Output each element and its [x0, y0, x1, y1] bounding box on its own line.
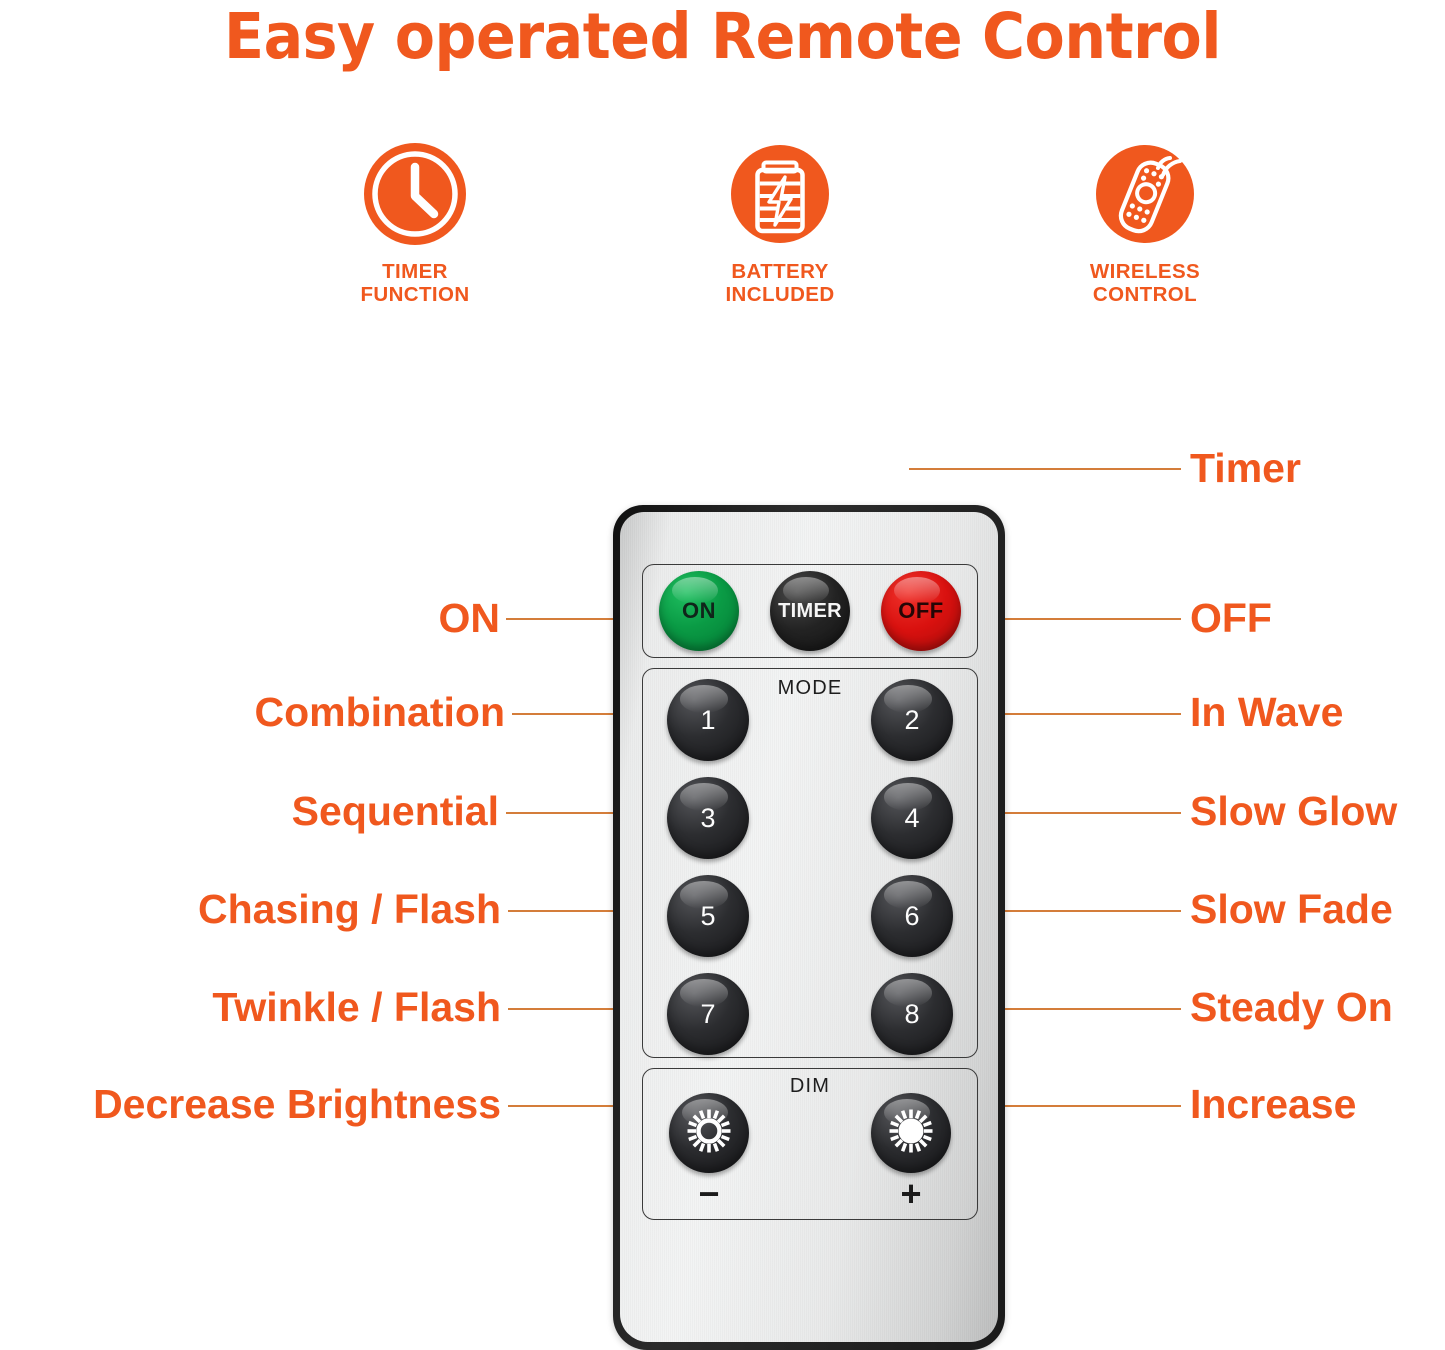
callout-off: OFF: [1190, 596, 1272, 640]
callout-on: ON: [100, 596, 500, 640]
mode-button-1-label: 1: [700, 705, 715, 736]
mode-button-3[interactable]: 3: [667, 777, 749, 859]
mode-button-6-label: 6: [904, 901, 919, 932]
leader-line-timer: [909, 468, 1181, 470]
mode-button-5[interactable]: 5: [667, 875, 749, 957]
timer-button[interactable]: TIMER: [770, 571, 850, 651]
mode-button-8-label: 8: [904, 999, 919, 1030]
off-button-label: OFF: [898, 598, 944, 624]
dim-decrease-sign: −: [669, 1181, 749, 1207]
feature-wireless-line2: CONTROL: [1015, 283, 1275, 306]
remote-control-device: ON TIMER OFF MODE 1 2 3 4 5 6: [613, 505, 1005, 1350]
mode-button-3-label: 3: [700, 803, 715, 834]
mode-button-8[interactable]: 8: [871, 973, 953, 1055]
power-panel: ON TIMER OFF: [642, 564, 978, 658]
mode-button-7[interactable]: 7: [667, 973, 749, 1055]
mode-button-4[interactable]: 4: [871, 777, 953, 859]
clock-icon: [285, 138, 545, 250]
on-button-label: ON: [682, 598, 716, 624]
battery-icon: [650, 138, 910, 250]
feature-timer-function: TIMER FUNCTION: [285, 138, 545, 306]
brightness-low-icon: [684, 1106, 734, 1161]
mode-button-7-label: 7: [700, 999, 715, 1030]
remote-faceplate: ON TIMER OFF MODE 1 2 3 4 5 6: [620, 512, 998, 1342]
dim-increase-sign: +: [871, 1181, 951, 1207]
mode-button-6[interactable]: 6: [871, 875, 953, 957]
feature-timer-line2: FUNCTION: [285, 283, 545, 306]
feature-battery-line1: BATTERY: [650, 260, 910, 283]
mode-button-4-label: 4: [904, 803, 919, 834]
remote-icon: [1015, 138, 1275, 250]
mode-button-5-label: 5: [700, 901, 715, 932]
off-button[interactable]: OFF: [881, 571, 961, 651]
callout-chasing-flash: Chasing / Flash: [60, 887, 501, 931]
feature-wireless-line1: WIRELESS: [1015, 260, 1275, 283]
callout-slow-glow: Slow Glow: [1190, 789, 1397, 833]
mode-button-1[interactable]: 1: [667, 679, 749, 761]
callout-twinkle-flash: Twinkle / Flash: [60, 985, 501, 1029]
callout-sequential: Sequential: [100, 789, 499, 833]
feature-battery-included: BATTERY INCLUDED: [650, 138, 910, 306]
callout-in-wave: In Wave: [1190, 690, 1343, 734]
callout-steady-on: Steady On: [1190, 985, 1393, 1029]
callout-combination: Combination: [100, 690, 505, 734]
feature-wireless-control: WIRELESS CONTROL: [1015, 138, 1275, 306]
timer-button-label: TIMER: [778, 600, 842, 623]
brightness-high-icon: [886, 1106, 936, 1161]
brightness-increase-button[interactable]: [871, 1093, 951, 1173]
on-button[interactable]: ON: [659, 571, 739, 651]
mode-button-2[interactable]: 2: [871, 679, 953, 761]
mode-panel: MODE 1 2 3 4 5 6 7 8: [642, 668, 978, 1058]
callout-slow-fade: Slow Fade: [1190, 887, 1393, 931]
dim-panel: DIM: [642, 1068, 978, 1220]
feature-timer-line1: TIMER: [285, 260, 545, 283]
callout-timer: Timer: [1190, 446, 1301, 490]
callout-decrease-brightness: Decrease Brightness: [0, 1082, 501, 1126]
feature-battery-line2: INCLUDED: [650, 283, 910, 306]
callout-increase: Increase: [1190, 1082, 1356, 1126]
brightness-decrease-button[interactable]: [669, 1093, 749, 1173]
dim-panel-title: DIM: [643, 1075, 977, 1098]
mode-button-2-label: 2: [904, 705, 919, 736]
page-title: Easy operated Remote Control: [51, 0, 1395, 76]
